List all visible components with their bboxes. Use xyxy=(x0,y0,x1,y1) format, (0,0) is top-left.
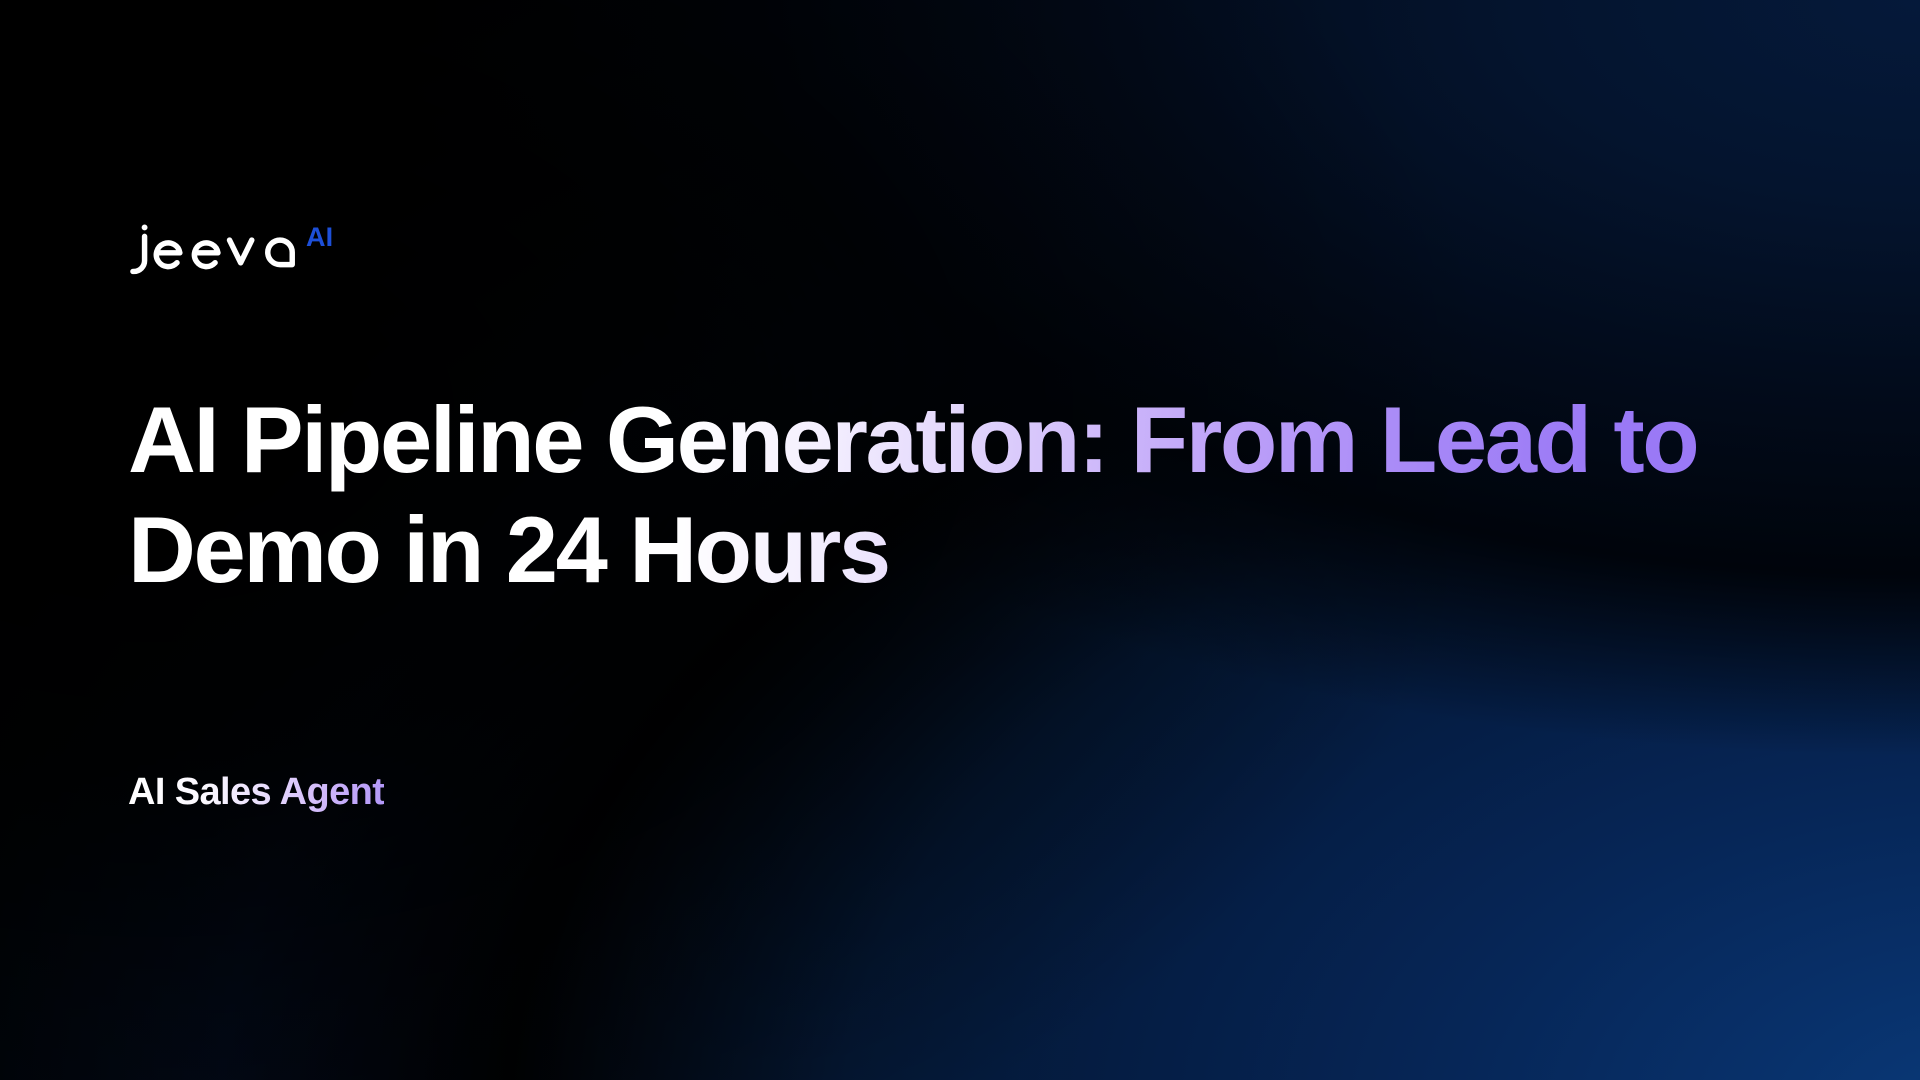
title-slide: AI AI Pipeline Generation: From Lead to … xyxy=(0,0,1920,1080)
subtitle: AI Sales Agent xyxy=(128,770,384,816)
logo-ai-suffix: AI xyxy=(306,224,333,251)
page-title: AI Pipeline Generation: From Lead to Dem… xyxy=(128,385,1788,605)
brand-logo: AI xyxy=(128,222,333,278)
slide-content: AI AI Pipeline Generation: From Lead to … xyxy=(128,0,1828,1080)
jeeva-wordmark-icon xyxy=(128,222,299,278)
